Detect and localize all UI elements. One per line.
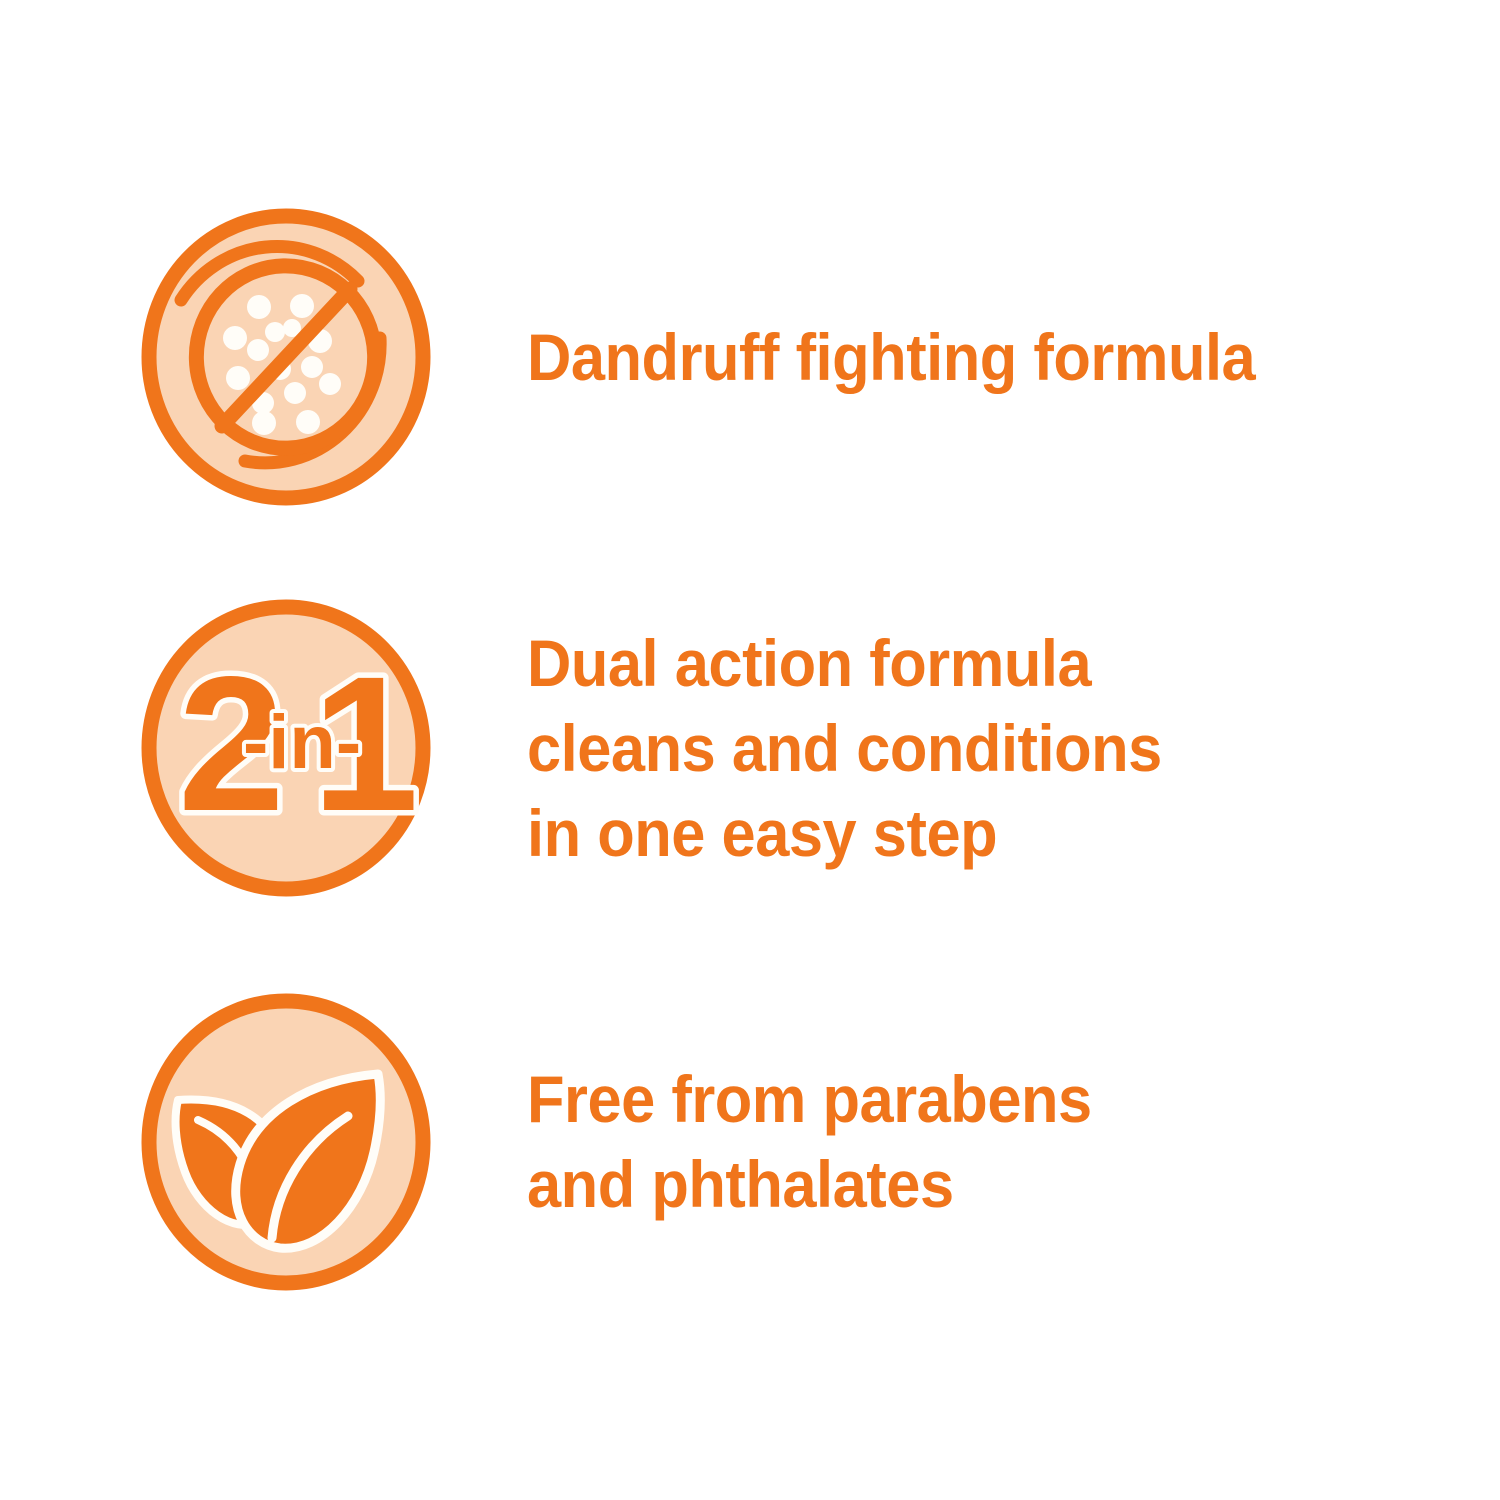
- feature-line: in one easy step: [527, 791, 1162, 876]
- feature-line: Dandruff fighting formula: [527, 315, 1255, 400]
- feature-text: Dual action formula cleans and condition…: [527, 598, 1210, 898]
- feature-line: and phthalates: [527, 1142, 1092, 1227]
- feature-line: Free from parabens: [527, 1057, 1092, 1142]
- no-dandruff-icon: [140, 207, 432, 507]
- leaves-icon: [140, 992, 432, 1292]
- feature-line: Dual action formula: [527, 621, 1162, 706]
- feature-row: Free from parabens and phthalates: [0, 992, 1500, 1292]
- feature-line: cleans and conditions: [527, 706, 1162, 791]
- feature-text: Dandruff fighting formula: [527, 207, 1310, 507]
- two-in-one-icon: 2 1 -in-: [140, 598, 432, 898]
- feature-text: Free from parabens and phthalates: [527, 992, 1134, 1292]
- svg-text:-in-: -in-: [243, 700, 361, 785]
- feature-row: 2 1 -in- Dual action formula cleans and …: [0, 598, 1500, 898]
- feature-list-panel: Dandruff fighting formula 2 1 -in- Dual …: [0, 0, 1500, 1500]
- feature-row: Dandruff fighting formula: [0, 207, 1500, 507]
